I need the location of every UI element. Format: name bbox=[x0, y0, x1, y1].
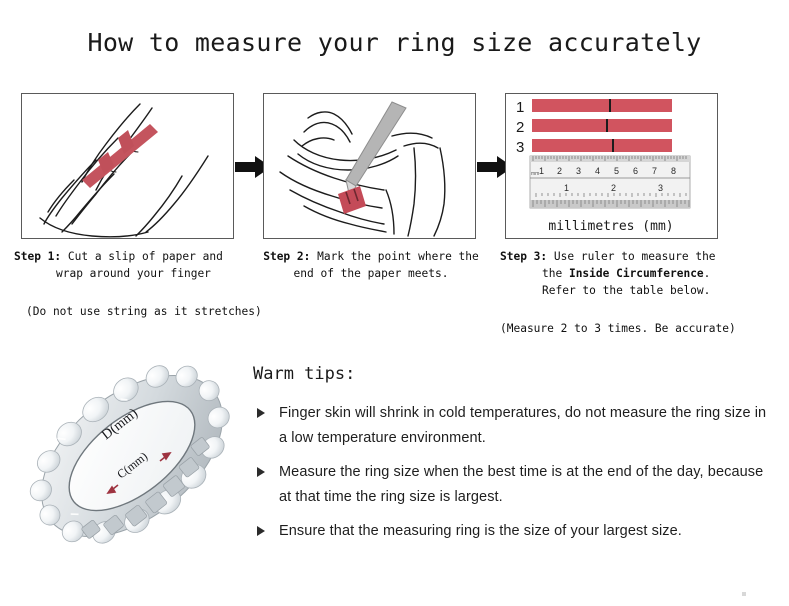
warm-tip-item-3: Ensure that the measuring ring is the si… bbox=[253, 519, 768, 544]
ruler-graphic: 1 2 3 4 5 6 7 8 mm 1 2 3 bbox=[530, 156, 690, 208]
paper-band-red bbox=[338, 186, 366, 214]
step-1-text-line2: wrap around your finger bbox=[14, 265, 264, 282]
ruler-mm-tick-1: 1 bbox=[539, 166, 544, 176]
ruler-mm-tick-8: 8 bbox=[671, 166, 676, 176]
captions-row: Step 1: Cut a slip of paper and wrap aro… bbox=[0, 248, 789, 348]
step-3-inside-circumference-emphasis: Inside Circumference bbox=[569, 267, 704, 280]
ring-diagram: D(mm) C(mm) bbox=[18, 352, 246, 570]
step-3-text-line2-post: . bbox=[704, 267, 711, 280]
strip-number-2: 2 bbox=[516, 119, 524, 136]
page-title: How to measure your ring size accurately bbox=[0, 28, 789, 57]
step-3-text-line1: Use ruler to measure the bbox=[547, 250, 715, 263]
warm-tip-item-1: Finger skin will shrink in cold temperat… bbox=[253, 401, 768, 451]
ruler-mm-tick-5: 5 bbox=[614, 166, 619, 176]
stray-mark bbox=[742, 592, 746, 596]
ruler-inch-tick-1: 1 bbox=[564, 183, 569, 193]
warm-tips-heading: Warm tips: bbox=[253, 364, 768, 384]
pen-icon bbox=[346, 102, 406, 198]
step-3-label: Step 3: bbox=[500, 250, 547, 263]
step-2-label: Step 2: bbox=[263, 250, 310, 263]
triangle-bullet-icon bbox=[257, 408, 265, 418]
paper-strip-3 bbox=[532, 139, 672, 152]
strip-number-1: 1 bbox=[516, 99, 524, 116]
step-2-text-line2: end of the paper meets. bbox=[258, 265, 484, 282]
paper-strip-2 bbox=[532, 119, 672, 132]
ruler-mm-unit-label: mm bbox=[531, 171, 539, 177]
step-3-text-line3: Refer to the table below. bbox=[500, 282, 750, 299]
ruler-mm-tick-7: 7 bbox=[652, 166, 657, 176]
paper-strips-and-ruler-drawing: 1 2 3 bbox=[506, 94, 717, 238]
hand-with-paper-slip-drawing bbox=[22, 94, 233, 238]
triangle-bullet-icon bbox=[257, 467, 265, 477]
triangle-bullet-icon bbox=[257, 526, 265, 536]
ruler-mm-tick-6: 6 bbox=[633, 166, 638, 176]
step-2-illustration-panel bbox=[263, 93, 476, 239]
paper-strip-1 bbox=[532, 99, 672, 112]
warm-tip-item-2: Measure the ring size when the best time… bbox=[253, 460, 768, 510]
warm-tip-text-1: Finger skin will shrink in cold temperat… bbox=[279, 405, 766, 446]
step-3-text-line2-pre: the bbox=[542, 267, 569, 280]
steps-row: 1 2 3 bbox=[0, 93, 789, 241]
step-3-illustration-panel: 1 2 3 bbox=[505, 93, 718, 239]
warm-tips-section: Warm tips: Finger skin will shrink in co… bbox=[253, 364, 768, 553]
ruler-inch-tick-3: 3 bbox=[658, 183, 663, 193]
step-2-text-line1: Mark the point where the bbox=[310, 250, 478, 263]
strip-number-3: 3 bbox=[516, 139, 524, 156]
step-3-caption: Step 3: Use ruler to measure the the Ins… bbox=[500, 248, 750, 337]
ruler-mm-tick-2: 2 bbox=[557, 166, 562, 176]
step-1-caption: Step 1: Cut a slip of paper and wrap aro… bbox=[14, 248, 264, 320]
hand-marking-paper-drawing bbox=[264, 94, 475, 238]
ruler-inch-tick-2: 2 bbox=[611, 183, 616, 193]
ruler-unit-caption: millimetres (mm) bbox=[548, 219, 673, 234]
step-1-note: (Do not use string as it stretches) bbox=[14, 303, 264, 320]
step-1-label: Step 1: bbox=[14, 250, 61, 263]
step-2-caption: Step 2: Mark the point where the end of … bbox=[258, 248, 484, 282]
warm-tip-text-3: Ensure that the measuring ring is the si… bbox=[279, 523, 682, 539]
warm-tip-text-2: Measure the ring size when the best time… bbox=[279, 464, 763, 505]
ruler-mm-tick-4: 4 bbox=[595, 166, 600, 176]
step-3-note: (Measure 2 to 3 times. Be accurate) bbox=[500, 320, 750, 337]
step-1-text-line1: Cut a slip of paper and bbox=[61, 250, 223, 263]
ruler-mm-tick-3: 3 bbox=[576, 166, 581, 176]
step-1-illustration-panel bbox=[21, 93, 234, 239]
eternity-ring-photo-illustration: D(mm) C(mm) bbox=[18, 352, 246, 570]
paper-slip-red bbox=[82, 124, 158, 188]
